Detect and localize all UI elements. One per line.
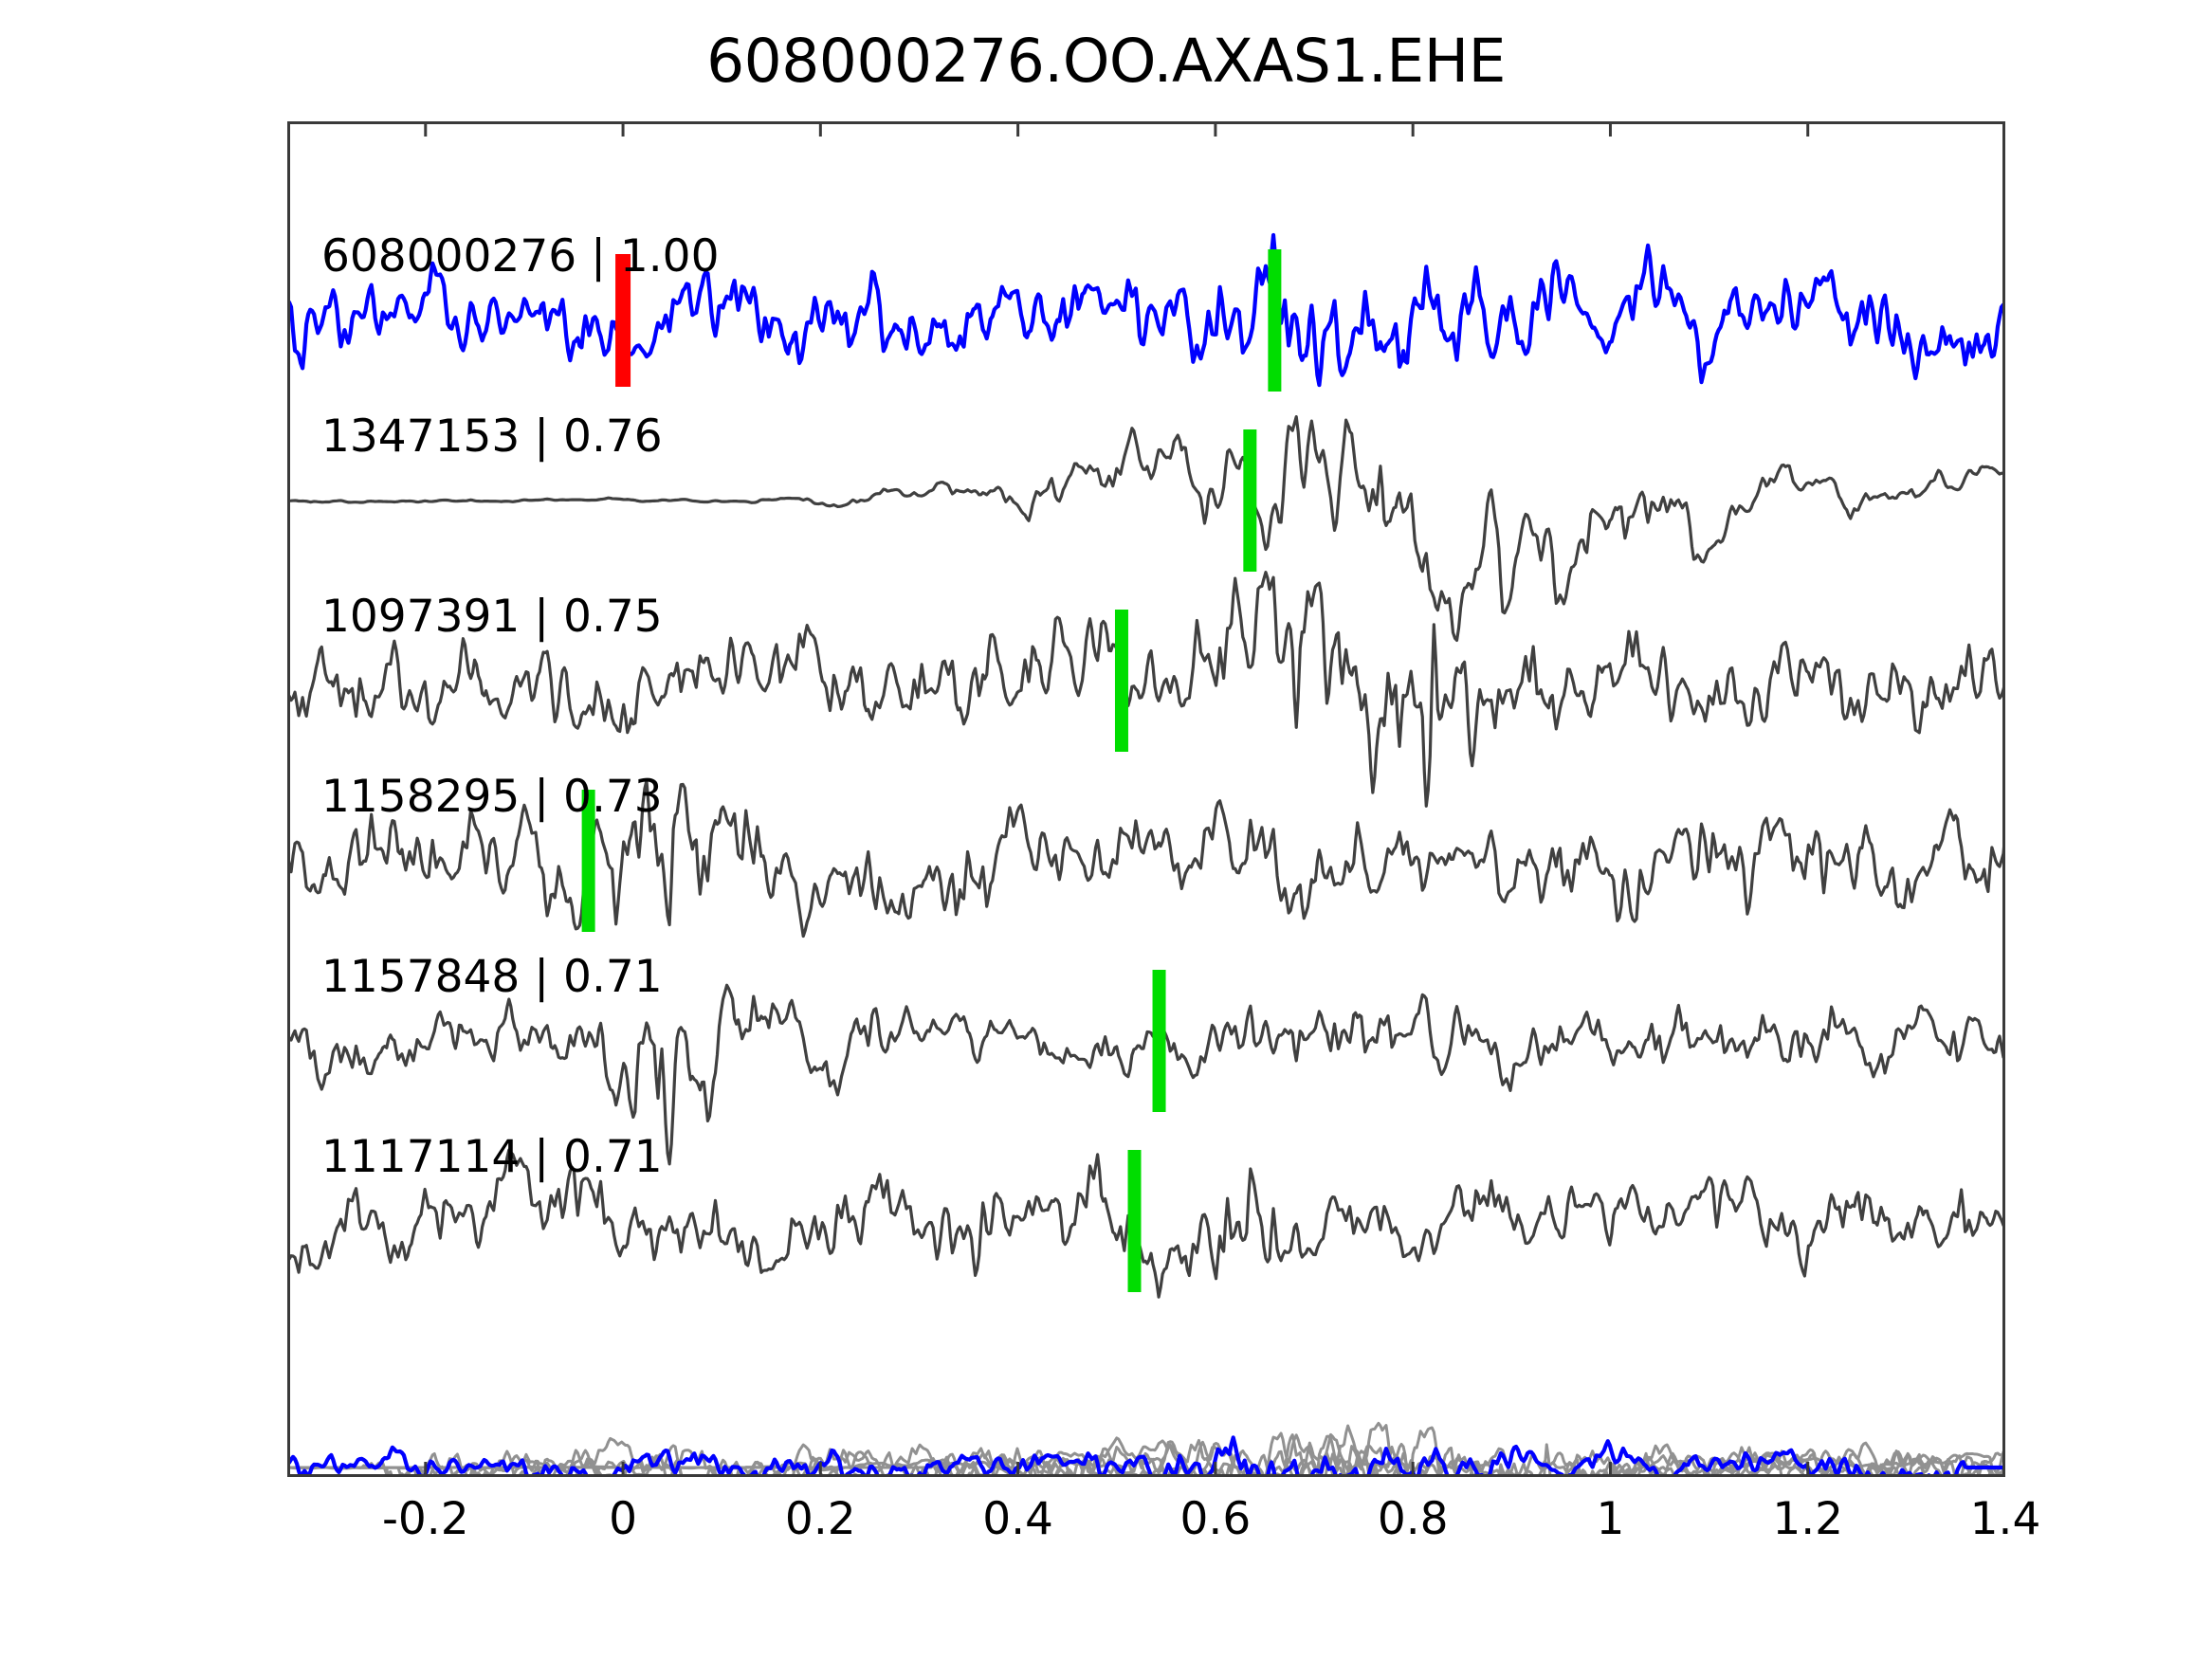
detection-marker-1157848 <box>1153 970 1166 1112</box>
x-tick-label-5: 0.8 <box>1378 1493 1449 1545</box>
x-tick-label-1: 0 <box>609 1493 637 1545</box>
x-tick-label-7: 1.2 <box>1772 1493 1843 1545</box>
x-axis-tick-labels: -0.200.20.40.60.811.21.4 <box>287 1493 2005 1550</box>
figure-canvas: 608000276.OO.AXAS1.EHE -0.200.20.40.60.8… <box>0 0 2212 1659</box>
trace-label-608000276: 608000276 | 1.00 <box>321 230 720 283</box>
x-tick-label-2: 0.2 <box>785 1493 856 1545</box>
detection-marker-608000276 <box>1268 249 1281 392</box>
x-tick-label-0: -0.2 <box>382 1493 469 1545</box>
x-tick-label-3: 0.4 <box>982 1493 1053 1545</box>
detection-marker-1347153 <box>1243 429 1256 572</box>
x-tick-label-4: 0.6 <box>1180 1493 1252 1545</box>
trace-label-1347153: 1347153 | 0.76 <box>321 410 663 463</box>
x-tick-label-6: 1 <box>1596 1493 1624 1545</box>
detection-marker-1097391 <box>1115 610 1128 752</box>
trace-label-1117114: 1117114 | 0.71 <box>321 1131 663 1183</box>
trace-label-1158295: 1158295 | 0.73 <box>321 771 663 823</box>
trace-label-1157848: 1157848 | 0.71 <box>321 951 663 1003</box>
page-title: 608000276.OO.AXAS1.EHE <box>0 27 2212 96</box>
detection-marker-1117114 <box>1128 1150 1142 1292</box>
trace-label-1097391: 1097391 | 0.75 <box>321 591 663 643</box>
aligned-stack-panel <box>287 1423 2005 1477</box>
x-tick-label-8: 1.4 <box>1970 1493 2041 1545</box>
